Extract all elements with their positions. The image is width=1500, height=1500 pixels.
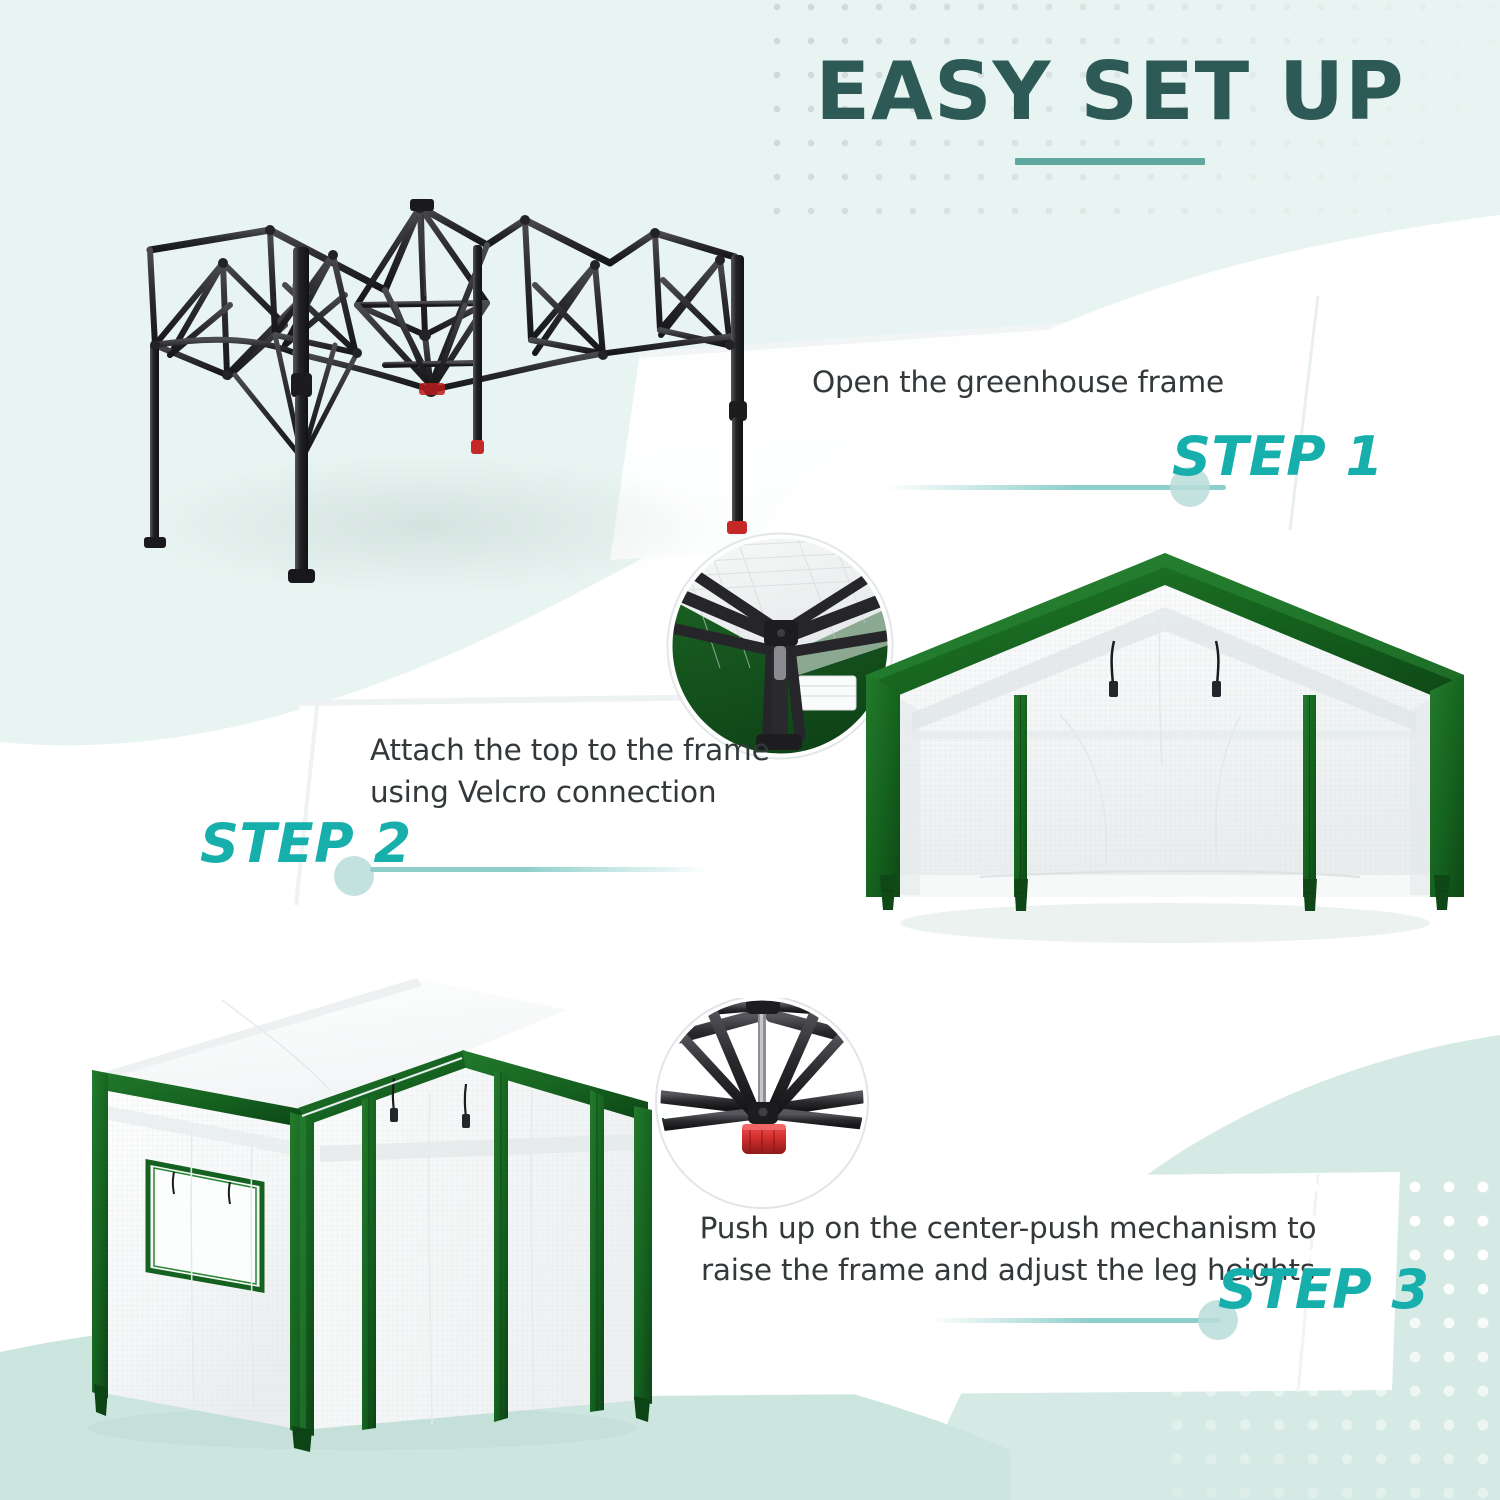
greenhouse-angle-illustration — [62, 960, 672, 1460]
greenhouse-front-illustration — [860, 545, 1470, 950]
step-2-rule — [370, 867, 710, 872]
step-2-description-line-2: using Velcro connection — [370, 772, 850, 814]
infographic-page: EASY SET UP — [0, 0, 1500, 1500]
step-1-label: STEP 1 — [1172, 425, 1384, 488]
title-block: EASY SET UP — [780, 52, 1440, 165]
center-push-mechanism-detail-inset — [650, 998, 885, 1223]
step-2-description-line-1: Attach the top to the frame — [370, 730, 850, 772]
step-3-label: STEP 3 — [1218, 1258, 1430, 1321]
page-title: EASY SET UP — [780, 52, 1440, 132]
title-underline — [1015, 158, 1205, 165]
step-1-description: Open the greenhouse frame — [812, 362, 1372, 404]
step-2-label: STEP 2 — [200, 812, 412, 875]
step-3-rule — [930, 1318, 1220, 1323]
step-2-description: Attach the top to the frame using Velcro… — [370, 730, 850, 814]
step-3-description-line-1: Push up on the center-push mechanism to — [688, 1208, 1328, 1250]
